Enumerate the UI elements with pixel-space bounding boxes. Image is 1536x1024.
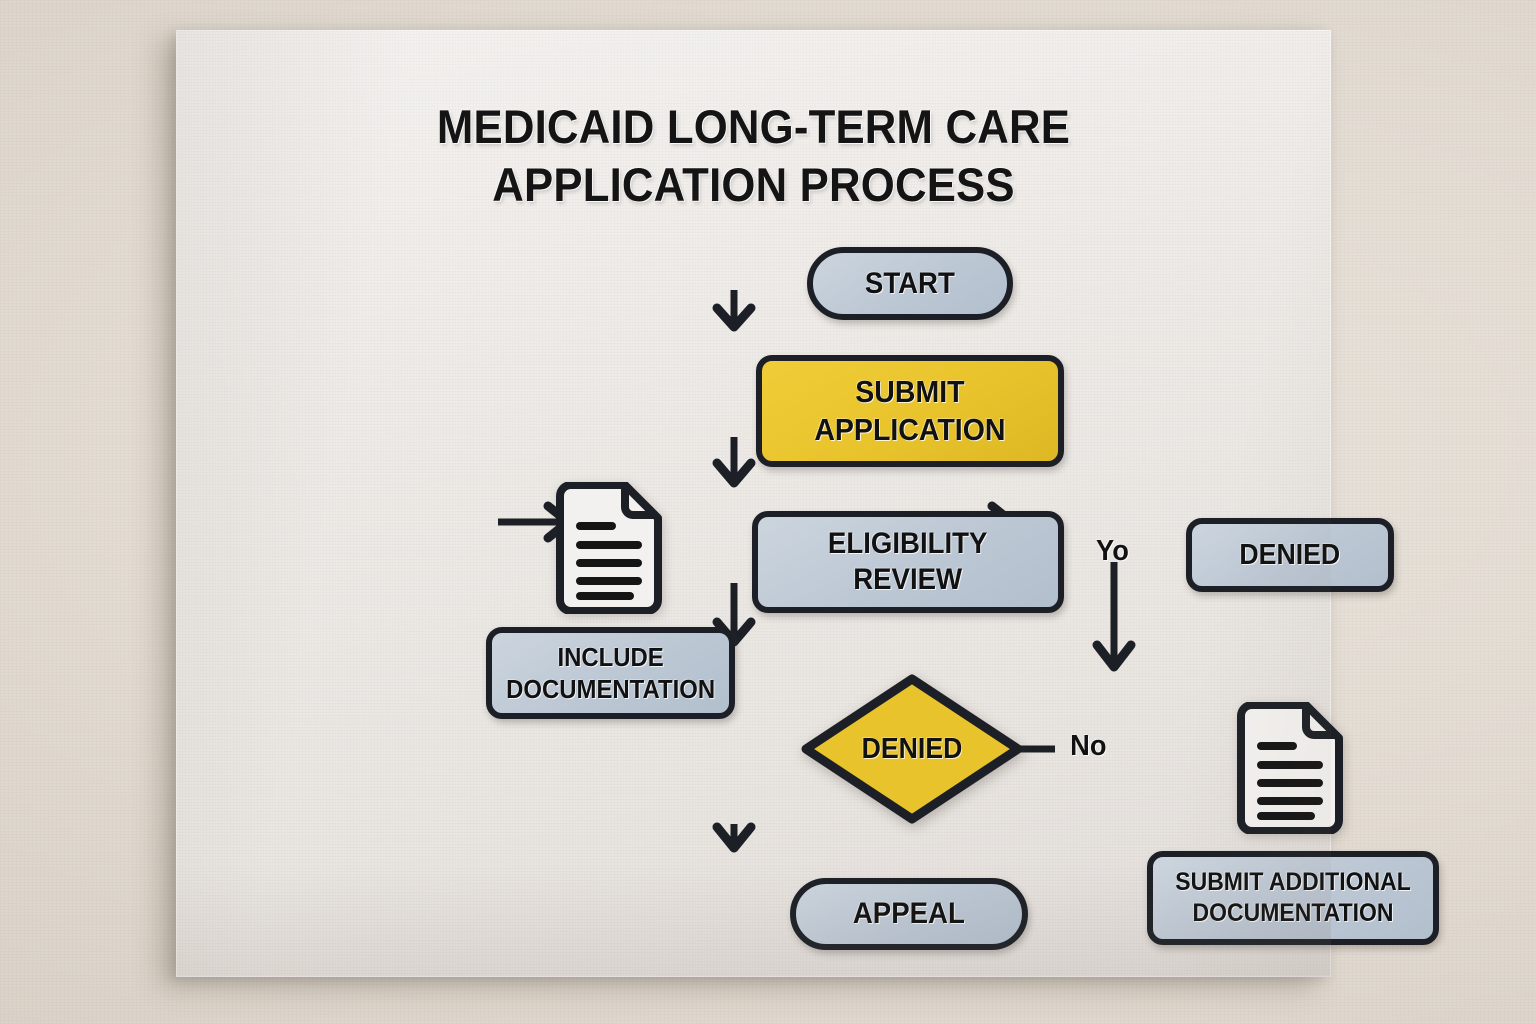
- node-submit-additional-documentation-label: SUBMIT ADDITIONAL DOCUMENTATION: [1175, 867, 1411, 929]
- node-submit-add-line-2: DOCUMENTATION: [1192, 899, 1393, 927]
- arrowhead-decision-to-appeal: [717, 827, 751, 848]
- node-submit-line-1: SUBMIT: [855, 374, 964, 409]
- poster-panel: MEDICAID LONG-TERM CARE APPLICATION PROC…: [176, 30, 1331, 977]
- node-submit-application[interactable]: SUBMIT APPLICATION: [756, 355, 1064, 467]
- node-include-documentation-label: INCLUDE DOCUMENTATION: [506, 641, 715, 705]
- node-denied[interactable]: DENIED: [1186, 518, 1394, 592]
- arrowhead-start-to-submit: [717, 308, 751, 327]
- node-eligibility-review-label: ELIGIBILITY REVIEW: [828, 526, 987, 598]
- node-appeal[interactable]: APPEAL: [790, 878, 1028, 950]
- page-title: MEDICAID LONG-TERM CARE APPLICATION PROC…: [216, 98, 1290, 214]
- node-include-line-2: DOCUMENTATION: [506, 674, 715, 704]
- node-appeal-label: APPEAL: [853, 897, 965, 931]
- node-eligibility-line-1: ELIGIBILITY: [828, 527, 987, 560]
- node-submit-additional-documentation[interactable]: SUBMIT ADDITIONAL DOCUMENTATION: [1147, 851, 1439, 945]
- edge-label-yes: Yo: [1096, 535, 1129, 568]
- document-icon: [1231, 702, 1349, 834]
- title-line-2: APPLICATION PROCESS: [216, 156, 1290, 214]
- node-decision-denied[interactable]: DENIED: [801, 674, 1023, 824]
- node-submit-add-line-1: SUBMIT ADDITIONAL: [1175, 868, 1411, 896]
- document-icon: [550, 482, 668, 614]
- node-denied-label: DENIED: [1240, 539, 1341, 572]
- node-start-label: START: [865, 267, 955, 301]
- node-eligibility-review[interactable]: ELIGIBILITY REVIEW: [752, 511, 1064, 613]
- node-submit-line-2: APPLICATION: [814, 412, 1005, 447]
- edge-label-no: No: [1070, 730, 1106, 763]
- arrowhead-denied-to-doc: [1097, 645, 1131, 667]
- node-include-line-1: INCLUDE: [557, 642, 663, 672]
- node-eligibility-line-2: REVIEW: [854, 563, 963, 596]
- node-include-documentation[interactable]: INCLUDE DOCUMENTATION: [486, 627, 735, 719]
- arrowhead-submit-to-eligibility: [717, 463, 751, 483]
- node-decision-denied-label: DENIED: [810, 674, 1014, 824]
- node-start[interactable]: START: [807, 247, 1013, 320]
- title-line-1: MEDICAID LONG-TERM CARE: [216, 98, 1290, 156]
- node-submit-application-label: SUBMIT APPLICATION: [814, 373, 1005, 449]
